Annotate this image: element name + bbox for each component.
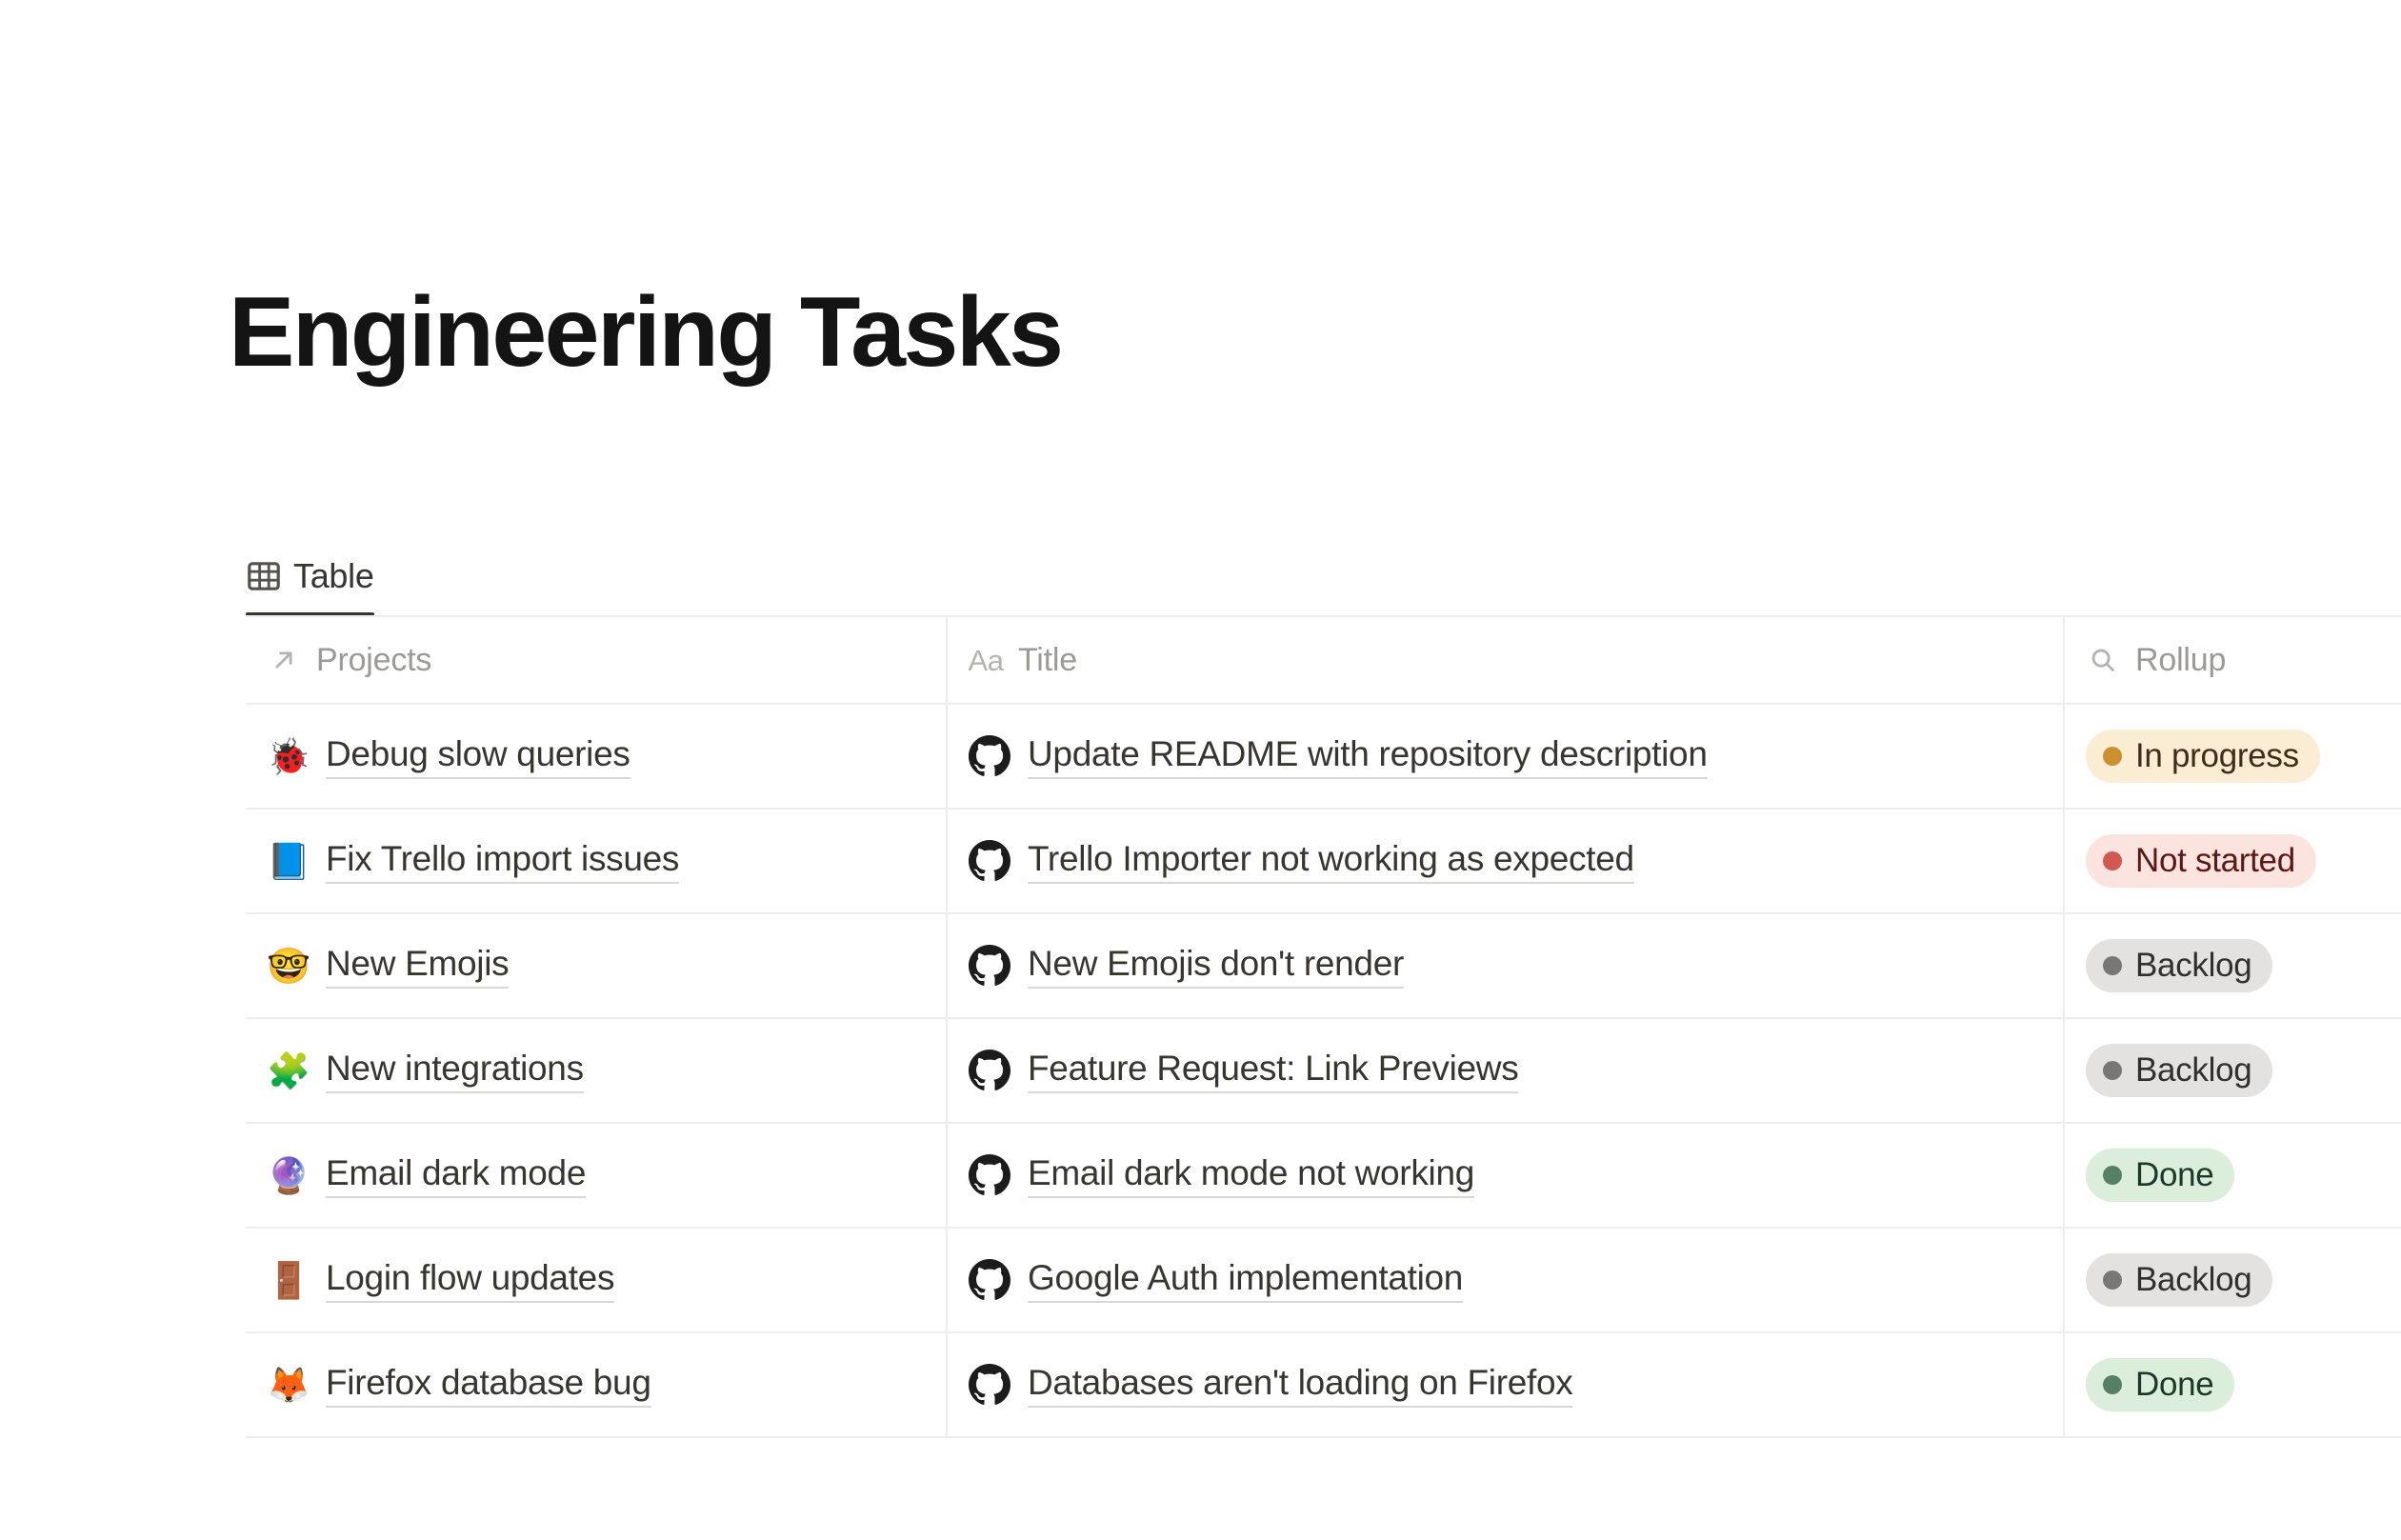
cell-projects[interactable]: 🐞Debug slow queries [246,705,946,808]
issue-title-link[interactable]: Databases aren't loading on Firefox [1028,1363,1572,1408]
status-badge: Done [2086,1149,2234,1202]
cell-projects[interactable]: 🚪Login flow updates [246,1229,946,1331]
notion-database-page: Engineering Tasks Table [0,0,2401,1540]
project-relation-link[interactable]: Login flow updates [326,1258,614,1303]
column-header-title-label: Title [1018,642,1077,679]
cell-title[interactable]: New Emojis don't render [946,914,2063,1017]
cell-projects[interactable]: 📘Fix Trello import issues [246,810,946,912]
blue-book-emoji: 📘 [267,844,309,879]
issue-title-link[interactable]: Feature Request: Link Previews [1028,1049,1518,1093]
status-badge: Backlog [2086,939,2272,992]
text-aa-icon: Aa [969,643,1003,677]
status-badge: Backlog [2086,1253,2272,1307]
project-relation-link[interactable]: New Emojis [326,944,509,989]
page-title: Engineering Tasks [229,281,1062,385]
status-dot-icon [2103,747,2122,766]
crystal-ball-emoji: 🔮 [267,1158,309,1193]
cell-rollup[interactable]: Backlog [2063,914,2401,1017]
lady-beetle-emoji: 🐞 [267,739,309,774]
cell-rollup[interactable]: Backlog [2063,1229,2401,1331]
cell-title[interactable]: Google Auth implementation [946,1229,2063,1331]
github-icon [969,1259,1010,1301]
table-body: 🐞Debug slow queriesUpdate README with re… [246,705,2401,1438]
status-dot-icon [2103,1270,2122,1290]
status-badge-label: Backlog [2135,947,2251,985]
table-header-row: Projects Aa Title Rollup [246,617,2401,705]
table-row[interactable]: 🤓New EmojisNew Emojis don't renderBacklo… [246,914,2401,1019]
status-dot-icon [2103,1166,2122,1185]
database-table: Projects Aa Title Rollup 🐞Debug slow que… [246,617,2401,1438]
table-row[interactable]: 🧩New integrationsFeature Request: Link P… [246,1019,2401,1124]
status-badge-label: Done [2135,1156,2213,1194]
status-badge-label: In progress [2135,737,2299,775]
cell-title[interactable]: Databases aren't loading on Firefox [946,1333,2063,1436]
fox-emoji: 🦊 [267,1368,309,1403]
cell-title[interactable]: Feature Request: Link Previews [946,1019,2063,1122]
github-icon [969,1364,1010,1406]
tab-table-label: Table [293,556,374,596]
github-icon [969,1154,1010,1196]
column-header-rollup-label: Rollup [2135,642,2226,679]
issue-title-link[interactable]: Trello Importer not working as expected [1028,839,1634,884]
github-icon [969,840,1010,882]
project-relation-link[interactable]: Fix Trello import issues [326,839,679,884]
cell-projects[interactable]: 🔮Email dark mode [246,1124,946,1227]
status-dot-icon [2103,1061,2122,1080]
issue-title-link[interactable]: Update README with repository descriptio… [1028,734,1708,779]
status-badge-label: Backlog [2135,1261,2251,1299]
cell-rollup[interactable]: In progress [2063,705,2401,808]
cell-rollup[interactable]: Backlog [2063,1019,2401,1122]
tab-table[interactable]: Table [246,556,384,617]
github-icon [969,945,1010,987]
cell-rollup[interactable]: Not started [2063,810,2401,912]
project-relation-link[interactable]: New integrations [326,1049,584,1093]
door-emoji: 🚪 [267,1263,309,1298]
cell-title[interactable]: Trello Importer not working as expected [946,810,2063,912]
status-badge-label: Backlog [2135,1051,2251,1090]
github-icon [969,1050,1010,1091]
column-header-title[interactable]: Aa Title [946,617,2063,703]
column-header-projects[interactable]: Projects [246,617,946,703]
issue-title-link[interactable]: Google Auth implementation [1028,1258,1463,1303]
issue-title-link[interactable]: Email dark mode not working [1028,1153,1474,1198]
cell-title[interactable]: Update README with repository descriptio… [946,705,2063,808]
column-header-projects-label: Projects [316,642,431,679]
github-icon [969,735,1010,777]
status-dot-icon [2103,851,2122,870]
cell-rollup[interactable]: Done [2063,1124,2401,1227]
project-relation-link[interactable]: Debug slow queries [326,734,630,779]
cell-projects[interactable]: 🤓New Emojis [246,914,946,1017]
status-dot-icon [2103,956,2122,975]
table-row[interactable]: 📘Fix Trello import issuesTrello Importer… [246,810,2401,914]
issue-title-link[interactable]: New Emojis don't render [1028,944,1404,989]
view-tab-bar: Table [246,533,384,617]
project-relation-link[interactable]: Email dark mode [326,1153,586,1198]
puzzle-piece-emoji: 🧩 [267,1053,309,1089]
status-badge: Not started [2086,834,2316,888]
cell-projects[interactable]: 🦊Firefox database bug [246,1333,946,1436]
table-row[interactable]: 🦊Firefox database bugDatabases aren't lo… [246,1333,2401,1438]
cell-rollup[interactable]: Done [2063,1333,2401,1436]
status-badge: Backlog [2086,1044,2272,1097]
status-badge-label: Done [2135,1366,2213,1404]
status-dot-icon [2103,1375,2122,1394]
relation-arrow-icon [267,643,301,677]
status-badge: In progress [2086,730,2320,783]
nerd-face-emoji: 🤓 [267,949,309,984]
table-row[interactable]: 🐞Debug slow queriesUpdate README with re… [246,705,2401,810]
status-badge-label: Not started [2135,842,2295,880]
cell-projects[interactable]: 🧩New integrations [246,1019,946,1122]
status-badge: Done [2086,1358,2234,1411]
cell-title[interactable]: Email dark mode not working [946,1124,2063,1227]
magnifier-icon [2086,643,2120,677]
table-grid-icon [248,562,280,590]
column-header-rollup[interactable]: Rollup [2063,617,2401,703]
table-row[interactable]: 🔮Email dark modeEmail dark mode not work… [246,1124,2401,1229]
project-relation-link[interactable]: Firefox database bug [326,1363,651,1408]
table-row[interactable]: 🚪Login flow updatesGoogle Auth implement… [246,1229,2401,1333]
